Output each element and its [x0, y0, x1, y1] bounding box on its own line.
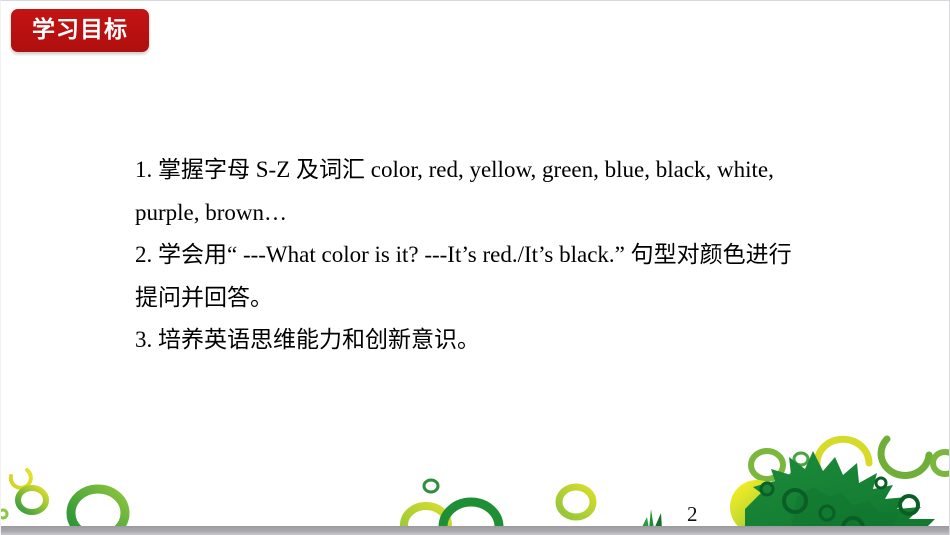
decor-ring-left-small — [18, 488, 46, 512]
decor-gradient-ball — [730, 480, 784, 529]
objective-line-3: 2. 学会用“ ---What color is it? ---It’s red… — [135, 234, 835, 277]
decor-ring-left-medium — [71, 489, 125, 529]
decor-ring-mid-large — [443, 502, 499, 529]
section-title-badge: 学习目标 — [11, 9, 149, 52]
section-title-label: 学习目标 — [32, 19, 128, 42]
decor-ring-center-right — [559, 487, 593, 517]
decor-arc-yellow-top — [817, 439, 869, 476]
decor-maple-leaf — [745, 451, 935, 529]
objective-line-2: purple, brown… — [135, 192, 835, 235]
decor-ring-upper-right-b — [794, 453, 808, 465]
objectives-text-block: 1. 掌握字母 S-Z 及词汇 color, red, yellow, gree… — [135, 149, 835, 362]
decor-ring-left-tiny — [1, 510, 7, 518]
decor-ring-upper-right-a — [751, 451, 783, 479]
bottom-decoration-graphic — [1, 401, 950, 529]
decor-ring-upper-right-c — [789, 472, 805, 486]
objective-line-4: 提问并回答。 — [135, 277, 835, 320]
decor-crescent-left — [11, 470, 31, 488]
page-number: 2 — [687, 504, 698, 525]
decor-ring-mid-tiny — [424, 480, 438, 492]
slide-canvas: 学习目标 1. 掌握字母 S-Z 及词汇 color, red, yellow,… — [0, 0, 950, 535]
bottom-bar — [1, 526, 950, 535]
decor-arc-green-top-right — [881, 439, 929, 475]
decor-ring-far-right — [933, 452, 950, 474]
objective-line-1: 1. 掌握字母 S-Z 及词汇 color, red, yellow, gree… — [135, 149, 835, 192]
objective-line-5: 3. 培养英语思维能力和创新意识。 — [135, 319, 835, 362]
